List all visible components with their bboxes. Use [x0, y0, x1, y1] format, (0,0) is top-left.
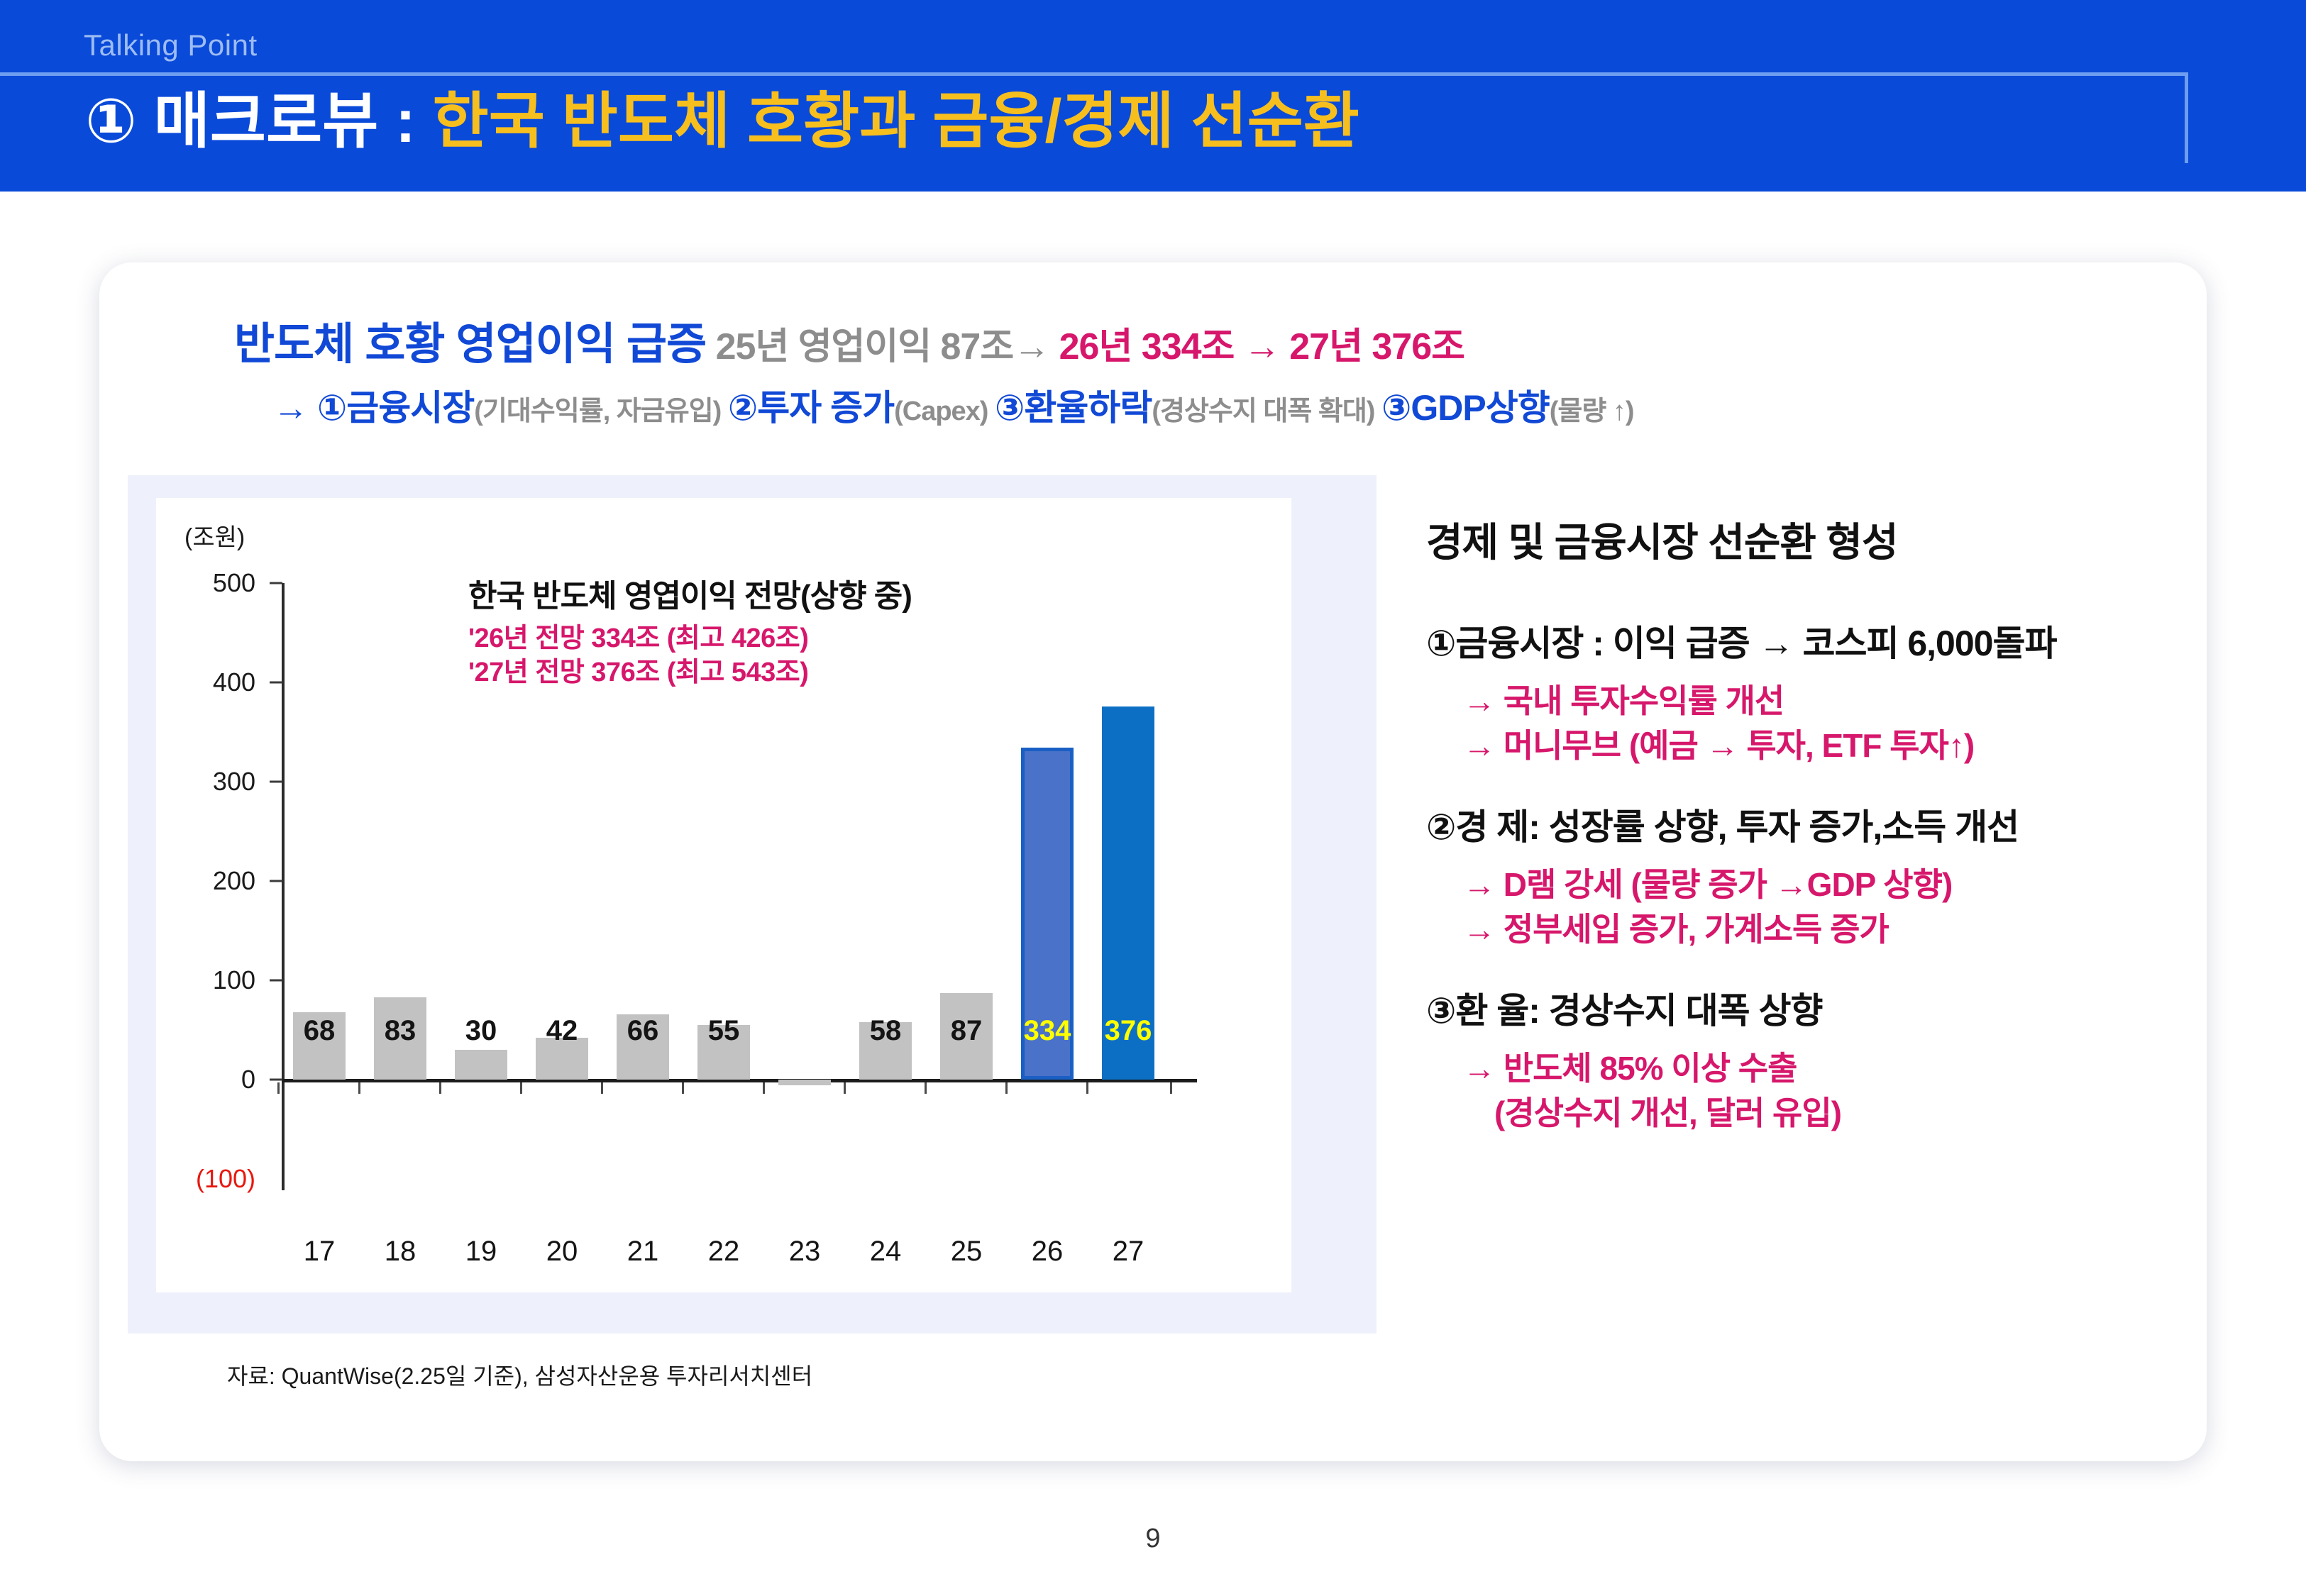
eyebrow-label: Talking Point: [84, 28, 258, 62]
y-axis-line: [282, 583, 285, 1190]
card-subheadline: → ①금융시장(기대수익률, 자금유입) ②투자 증가(Capex) ③환율하락…: [273, 390, 1634, 426]
y-axis-tick-label: (100): [156, 1164, 255, 1194]
x-axis-tick-label: 24: [854, 1236, 917, 1268]
insight-bullet: → 국내 투자수익률 개선: [1463, 679, 2178, 724]
chart-panel: (조원) 한국 반도체 영엽이익 전망(상향 중) '26년 전망 334조 (…: [128, 475, 1377, 1334]
x-axis-tick-mark: [1170, 1082, 1172, 1094]
x-axis-tick-mark: [358, 1082, 360, 1094]
x-axis-tick-mark: [925, 1082, 927, 1094]
insight-bullet: → 반도체 85% 이상 수출: [1463, 1046, 2178, 1091]
content-card: 반도체 호황 영업이익 급증 25년 영업이익 87조→ 26년 334조 → …: [99, 262, 2207, 1461]
subheadline-seg4: ③GDP상향: [1381, 388, 1550, 428]
chart-plot-area: 5004003002001000(100)6817831830194220662…: [156, 498, 1291, 1292]
subheadline-seg1-note: (기대수익률, 자금유입): [474, 397, 728, 426]
chart-bar-value-label: 58: [870, 1015, 902, 1047]
x-axis-tick-label: 27: [1096, 1236, 1160, 1268]
y-axis-tick-mark: [270, 880, 282, 882]
y-axis-tick-label: 400: [156, 667, 255, 697]
subheadline-seg2: ②투자 증가: [728, 388, 894, 428]
y-axis-tick-label: 200: [156, 866, 255, 896]
y-axis-tick-mark: [270, 682, 282, 684]
x-axis-tick-label: 17: [287, 1236, 351, 1268]
chart-bar-value-label: 68: [304, 1015, 336, 1047]
insights-block-list: ①금융시장 : 이익 급증 → 코스피 6,000돌파→ 국내 투자수익률 개선…: [1426, 615, 2178, 1135]
chart-bar-value-label: 30: [465, 1015, 497, 1047]
x-axis-tick-label: 25: [934, 1236, 998, 1268]
insight-bullet: (경상수지 개선, 달러 유입): [1494, 1091, 2178, 1136]
y-axis-tick-label: 300: [156, 767, 255, 797]
subheadline-seg1: → ①금융시장: [273, 388, 474, 428]
x-axis-tick-mark: [1086, 1082, 1088, 1094]
chart-bar-value-label: 55: [708, 1015, 740, 1047]
x-axis-tick-label: 26: [1015, 1236, 1079, 1268]
source-note: 자료: QuantWise(2.25일 기준), 삼성자산운용 투자리서치센터: [227, 1358, 812, 1391]
x-axis-tick-label: 19: [449, 1236, 513, 1268]
x-axis-tick-label: 22: [692, 1236, 756, 1268]
chart-bar-value-label: 42: [546, 1015, 578, 1047]
x-axis-tick-label: 18: [368, 1236, 432, 1268]
y-axis-tick-mark: [270, 781, 282, 783]
x-axis-tick-mark: [1005, 1082, 1008, 1094]
chart-bar-rect: [778, 1080, 831, 1085]
header-divider-line-right: [2185, 72, 2188, 163]
x-axis-tick-mark: [763, 1082, 765, 1094]
insights-title: 경제 및 금융시장 선순환 형성: [1426, 511, 2178, 568]
chart-bar-value-label: 376: [1105, 1015, 1152, 1047]
chart-bar-rect: [455, 1050, 507, 1080]
insight-block: ①금융시장 : 이익 급증 → 코스피 6,000돌파→ 국내 투자수익률 개선…: [1426, 615, 2178, 767]
page-title: ① 매크로뷰 : 한국 반도체 호황과 금융/경제 선순환: [85, 91, 1359, 152]
x-axis-tick-mark: [601, 1082, 603, 1094]
insight-heading: ①금융시장 : 이익 급증 → 코스피 6,000돌파: [1426, 615, 2178, 666]
insight-bullet: → 머니무브 (예금 → 투자, ETF 투자↑): [1463, 724, 2178, 768]
y-axis-tick-label: 100: [156, 965, 255, 995]
headline-main: 반도체 호황 영업이익 급증: [234, 320, 706, 369]
headline-pink: 26년 334조 → 27년 376조: [1059, 326, 1464, 367]
header-divider-line: [0, 72, 2188, 76]
y-axis-tick-mark: [270, 582, 282, 584]
x-axis-tick-label: 21: [611, 1236, 675, 1268]
slide-header-band: Talking Point ① 매크로뷰 : 한국 반도체 호황과 금융/경제 …: [0, 0, 2306, 192]
x-axis-tick-mark: [520, 1082, 522, 1094]
chart-canvas: (조원) 한국 반도체 영엽이익 전망(상향 중) '26년 전망 334조 (…: [156, 498, 1291, 1292]
chart-bar-value-label: 87: [951, 1015, 983, 1047]
x-axis-tick-mark: [682, 1082, 684, 1094]
headline-gray: 25년 영업이익 87조→: [706, 326, 1059, 367]
y-axis-tick-label: 500: [156, 568, 255, 598]
subheadline-seg3-note: (경상수지 대폭 확대): [1152, 397, 1381, 426]
subheadline-seg4-note: (물량 ↑): [1550, 397, 1634, 426]
y-axis-tick-label: 0: [156, 1065, 255, 1095]
insight-heading: ③환 율: 경상수지 대폭 상향: [1426, 982, 2178, 1033]
insight-block: ③환 율: 경상수지 대폭 상향→ 반도체 85% 이상 수출(경상수지 개선,…: [1426, 982, 2178, 1135]
x-axis-tick-mark: [439, 1082, 441, 1094]
chart-bar-value-label: 334: [1024, 1015, 1071, 1047]
chart-bar-value-label: 66: [627, 1015, 659, 1047]
page-title-prefix: ① 매크로뷰 :: [85, 87, 433, 155]
x-axis-tick-mark: [277, 1082, 280, 1094]
insight-block: ②경 제: 성장률 상향, 투자 증가,소득 개선→ D램 강세 (물량 증가 …: [1426, 799, 2178, 951]
subheadline-seg2-note: (Capex): [894, 397, 995, 426]
insight-bullet: → D램 강세 (물량 증가 →GDP 상향): [1463, 863, 2178, 907]
page-number: 9: [0, 1524, 2306, 1554]
insight-heading: ②경 제: 성장률 상향, 투자 증가,소득 개선: [1426, 799, 2178, 850]
x-axis-tick-mark: [844, 1082, 846, 1094]
y-axis-tick-mark: [270, 980, 282, 982]
page-title-highlight: 한국 반도체 호황과 금융/경제 선순환: [433, 87, 1359, 155]
y-axis-tick-mark: [270, 1079, 282, 1081]
x-axis-tick-label: 23: [773, 1236, 837, 1268]
insight-bullet: → 정부세입 증가, 가계소득 증가: [1463, 907, 2178, 952]
x-axis-tick-label: 20: [530, 1236, 594, 1268]
chart-bar-value-label: 83: [385, 1015, 416, 1047]
insights-column: 경제 및 금융시장 선순환 형성 ①금융시장 : 이익 급증 → 코스피 6,0…: [1426, 511, 2178, 1166]
subheadline-seg3: ③환율하락: [995, 388, 1152, 428]
card-headline: 반도체 호황 영업이익 급증 25년 영업이익 87조→ 26년 334조 → …: [234, 323, 1464, 367]
